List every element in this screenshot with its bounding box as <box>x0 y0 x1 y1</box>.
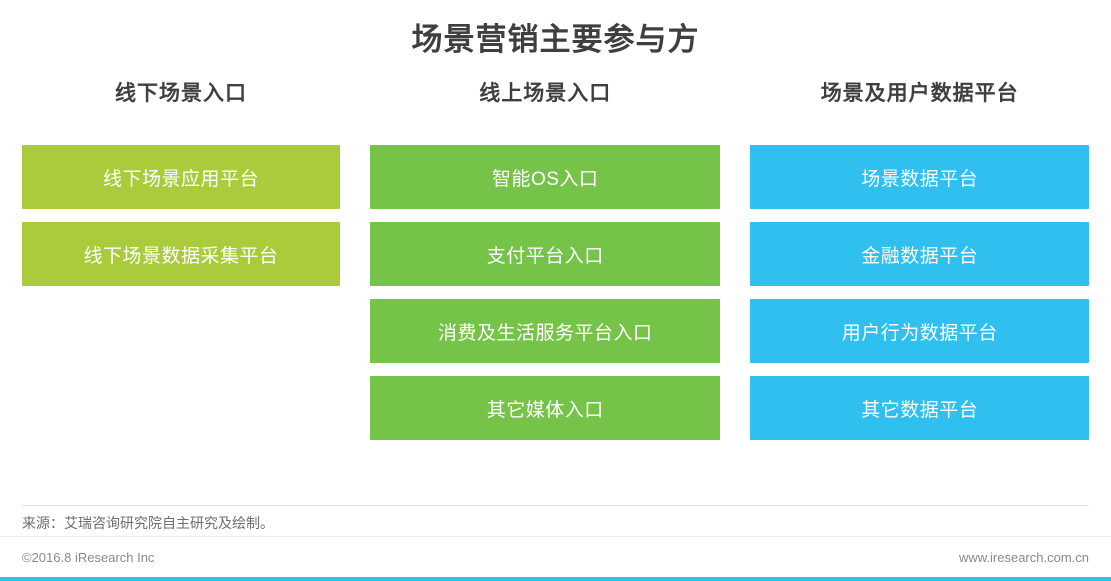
website-link[interactable]: www.iresearch.com.cn <box>959 550 1089 565</box>
column-heading-offline: 线下场景入口 <box>22 77 340 107</box>
box-offline-1[interactable]: 线下场景应用平台 <box>22 145 340 209</box>
columns-container: 线下场景入口 线下场景应用平台 线下场景数据采集平台 线上场景入口 智能OS入口… <box>0 77 1111 453</box>
copyright-text: ©2016.8 iResearch Inc <box>22 550 154 565</box>
box-data-2[interactable]: 金融数据平台 <box>750 222 1089 286</box>
box-online-3[interactable]: 消费及生活服务平台入口 <box>370 299 720 363</box>
box-offline-2[interactable]: 线下场景数据采集平台 <box>22 222 340 286</box>
box-data-1[interactable]: 场景数据平台 <box>750 145 1089 209</box>
column-online-entry: 线上场景入口 智能OS入口 支付平台入口 消费及生活服务平台入口 其它媒体入口 <box>370 77 750 453</box>
box-data-3[interactable]: 用户行为数据平台 <box>750 299 1089 363</box>
column-data-platform: 场景及用户数据平台 场景数据平台 金融数据平台 用户行为数据平台 其它数据平台 <box>750 77 1089 453</box>
box-online-1[interactable]: 智能OS入口 <box>370 145 720 209</box>
column-heading-online: 线上场景入口 <box>370 77 720 107</box>
column-offline-entry: 线下场景入口 线下场景应用平台 线下场景数据采集平台 <box>22 77 370 453</box>
accent-bar <box>0 577 1111 581</box>
page-title: 场景营销主要参与方 <box>0 0 1111 61</box>
diagram-page: 场景营销主要参与方 线下场景入口 线下场景应用平台 线下场景数据采集平台 线上场… <box>0 0 1111 581</box>
bottom-bar: ©2016.8 iResearch Inc www.iresearch.com.… <box>0 536 1111 581</box>
box-data-4[interactable]: 其它数据平台 <box>750 376 1089 440</box>
footer-divider <box>22 505 1089 506</box>
box-online-4[interactable]: 其它媒体入口 <box>370 376 720 440</box>
source-note: 来源：艾瑞咨询研究院自主研究及绘制。 <box>22 513 274 533</box>
column-heading-data: 场景及用户数据平台 <box>750 77 1089 107</box>
box-online-2[interactable]: 支付平台入口 <box>370 222 720 286</box>
